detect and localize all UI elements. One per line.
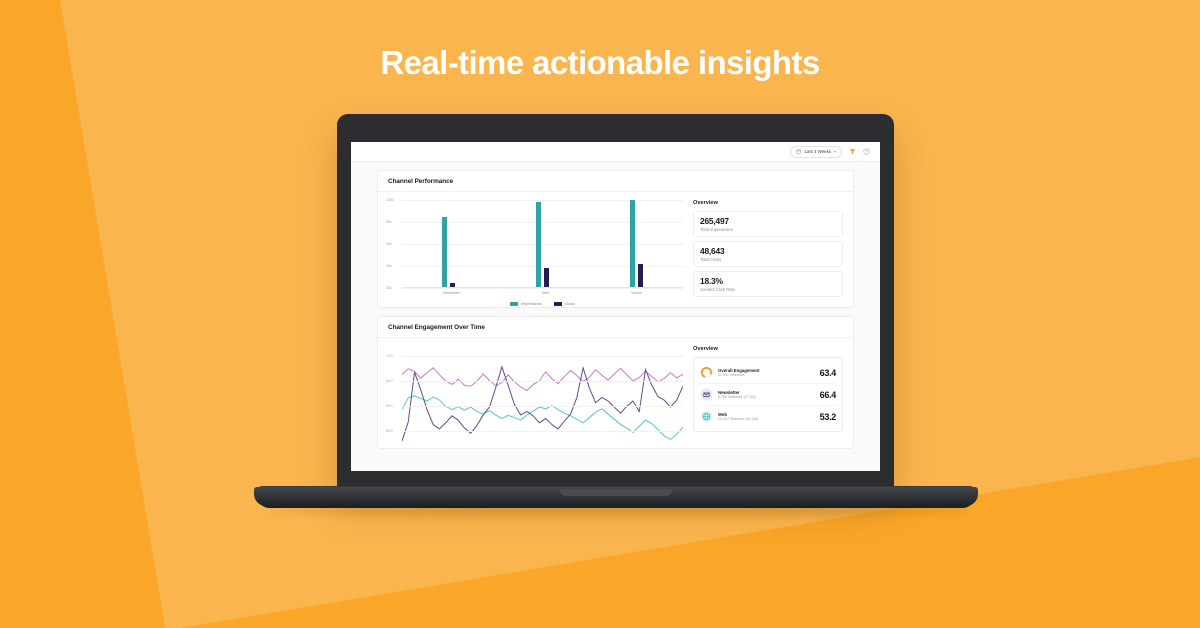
engagement-row[interactable]: Web10,312 Sessions (32.4%)53.2 xyxy=(700,405,836,427)
engagement-score: 63.4 xyxy=(820,368,836,378)
channel-engagement-overview: Overview Overall Engagement31,992 Sessio… xyxy=(683,346,843,442)
y-axis-tick: 20k xyxy=(386,286,400,290)
engagement-name: Overall Engagement xyxy=(718,368,815,373)
donut-progress-icon xyxy=(700,366,713,379)
y-axis-tick: 60k xyxy=(386,242,400,246)
stat-box: 265,497Total Impressions xyxy=(693,211,843,237)
gridline xyxy=(402,406,683,407)
gridline xyxy=(402,356,683,357)
gridline xyxy=(402,381,683,382)
x-axis-label: Newsletter xyxy=(443,291,460,295)
x-axis-label: Mobile xyxy=(631,291,642,295)
x-axis-label: Web xyxy=(542,291,549,295)
engagement-row[interactable]: Newsletter8,789 Sessions (27.5%)66.4 xyxy=(700,383,836,405)
laptop-notch xyxy=(560,489,672,496)
channel-engagement-card: Channel Engagement Over Time 70.0 65.0 6… xyxy=(377,316,854,449)
dashboard-app: Last 4 Weeks ▾ Channel Performance xyxy=(351,142,880,471)
legend-swatch xyxy=(554,302,562,306)
engagement-text: Overall Engagement31,992 Sessions xyxy=(718,368,815,378)
gridline xyxy=(402,431,683,432)
overview-title: Overview xyxy=(693,346,843,352)
engagement-score: 53.2 xyxy=(820,412,836,422)
y-axis-tick: 100k xyxy=(386,198,400,202)
bar-group xyxy=(630,200,643,287)
y-axis-tick: 40k xyxy=(386,264,400,268)
stat-box: 18.3%Content Click Rate xyxy=(693,271,843,297)
line-chart: 70.0 65.0 60.0 55.0 xyxy=(386,346,683,442)
line-series-newsletter xyxy=(402,368,683,391)
overview-title: Overview xyxy=(693,200,843,206)
help-circle-icon[interactable] xyxy=(863,148,870,155)
channel-performance-title: Channel Performance xyxy=(388,178,843,185)
engagement-sessions: 31,992 Sessions xyxy=(718,373,815,377)
laptop-screen: Last 4 Weeks ▾ Channel Performance xyxy=(351,142,880,471)
stat-value: 18.3% xyxy=(700,276,836,286)
date-range-selector[interactable]: Last 4 Weeks ▾ xyxy=(790,146,842,158)
legend-label: Clicks xyxy=(565,302,575,306)
bar-group-container xyxy=(402,200,683,287)
channel-performance-overview: Overview 265,497Total Impressions48,643T… xyxy=(683,200,843,301)
bar-chart: 100k 80k 60k 40k 20k NewsletterWebMobile… xyxy=(386,200,683,301)
legend-swatch xyxy=(510,302,518,306)
channel-engagement-header: Channel Engagement Over Time xyxy=(378,317,853,338)
legend-item[interactable]: Clicks xyxy=(554,302,575,306)
page-title: Real-time actionable insights xyxy=(0,44,1200,82)
bar-clicks[interactable] xyxy=(638,264,643,287)
stat-label: Total Impressions xyxy=(700,227,836,232)
bar-chart-plot-area: 100k 80k 60k 40k 20k NewsletterWebMobile… xyxy=(386,200,683,300)
date-range-label: Last 4 Weeks xyxy=(804,149,831,154)
x-axis-labels: NewsletterWebMobile xyxy=(402,291,683,295)
engagement-text: Web10,312 Sessions (32.4%) xyxy=(718,412,815,422)
laptop-mockup: Last 4 Weeks ▾ Channel Performance xyxy=(0,0,1200,628)
engagement-sessions: 8,789 Sessions (27.5%) xyxy=(718,395,815,399)
legend-label: Impressions xyxy=(521,302,541,306)
globe-icon xyxy=(700,410,713,423)
engagement-text: Newsletter8,789 Sessions (27.5%) xyxy=(718,390,815,400)
chevron-down-icon: ▾ xyxy=(834,150,836,154)
legend-item[interactable]: Impressions xyxy=(510,302,541,306)
engagement-sessions: 10,312 Sessions (32.4%) xyxy=(718,417,815,421)
y-axis-tick: 55.0 xyxy=(386,429,400,433)
channel-performance-card: Channel Performance 100k xyxy=(377,170,854,308)
stat-box: 48,643Total Clicks xyxy=(693,241,843,267)
channel-performance-header: Channel Performance xyxy=(378,171,853,192)
bar-chart-plot: 100k 80k 60k 40k 20k xyxy=(402,200,683,288)
bar-impressions[interactable] xyxy=(442,217,447,287)
y-axis-tick: 70.0 xyxy=(386,354,400,358)
stat-box-list: 265,497Total Impressions48,643Total Clic… xyxy=(693,211,843,297)
stat-label: Total Clicks xyxy=(700,257,836,262)
engagement-score: 66.4 xyxy=(820,390,836,400)
gridline xyxy=(402,288,683,289)
engagement-row[interactable]: Overall Engagement31,992 Sessions63.4 xyxy=(700,362,836,383)
app-toolbar: Last 4 Weeks ▾ xyxy=(351,142,880,162)
bar-clicks[interactable] xyxy=(450,283,455,287)
channel-engagement-body: 70.0 65.0 60.0 55.0 Overview Overall Eng… xyxy=(378,338,853,448)
y-axis-tick: 60.0 xyxy=(386,404,400,408)
bar-group xyxy=(442,217,455,287)
bar-impressions[interactable] xyxy=(536,202,541,287)
laptop-base xyxy=(258,486,974,508)
channel-performance-body: 100k 80k 60k 40k 20k NewsletterWebMobile… xyxy=(378,192,853,307)
engagement-name: Newsletter xyxy=(718,390,815,395)
y-axis-tick: 80k xyxy=(386,220,400,224)
line-chart-svg xyxy=(402,346,683,442)
bar-impressions[interactable] xyxy=(630,200,635,287)
filter-icon[interactable] xyxy=(849,148,856,155)
stat-value: 265,497 xyxy=(700,216,836,226)
bar-chart-legend: ImpressionsClicks xyxy=(402,302,683,306)
engagement-row-list: Overall Engagement31,992 Sessions63.4New… xyxy=(693,357,843,432)
bar-clicks[interactable] xyxy=(544,268,549,287)
engagement-name: Web xyxy=(718,412,815,417)
channel-engagement-title: Channel Engagement Over Time xyxy=(388,324,843,331)
stat-label: Content Click Rate xyxy=(700,287,836,292)
calendar-icon xyxy=(796,149,801,154)
line-chart-plot-area: 70.0 65.0 60.0 55.0 xyxy=(402,346,683,442)
bar-group xyxy=(536,202,549,287)
stat-value: 48,643 xyxy=(700,246,836,256)
newsletter-icon xyxy=(700,388,713,401)
y-axis-tick: 65.0 xyxy=(386,379,400,383)
